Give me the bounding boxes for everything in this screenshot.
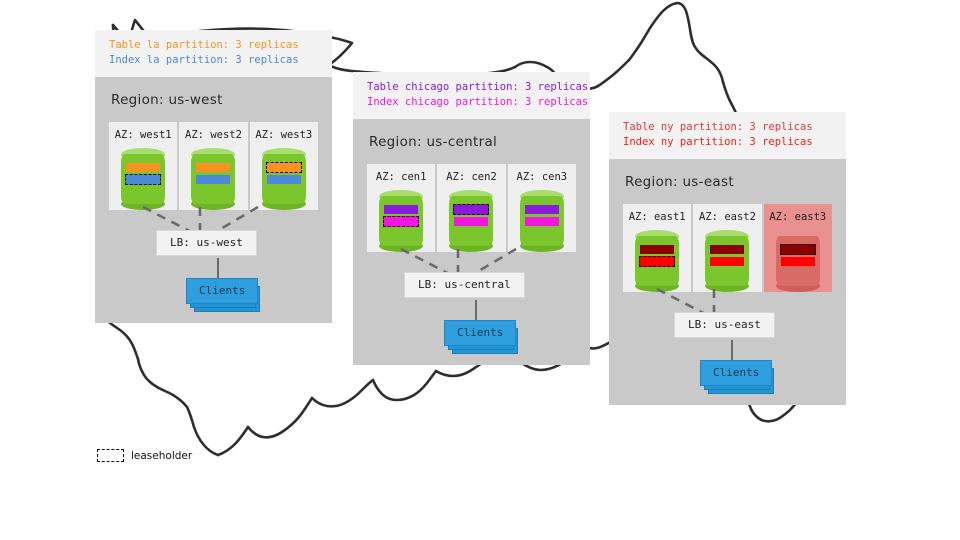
index-replica-bar xyxy=(781,257,815,266)
table-replica-bar xyxy=(196,163,230,172)
lb-to-clients-line xyxy=(217,258,219,278)
az-cen2[interactable]: AZ: cen2 xyxy=(437,164,507,252)
table-replica-bar xyxy=(710,245,744,254)
index-replica-bar-leaseholder xyxy=(125,174,161,185)
az-east2[interactable]: AZ: east2 xyxy=(693,204,763,292)
leaseholder-legend-label: leaseholder xyxy=(131,450,192,462)
replica-bars xyxy=(525,205,559,229)
partition-label-index: Index chicago partition: 3 replicas xyxy=(367,95,576,110)
db-node-cen1[interactable] xyxy=(379,190,423,252)
partition-label-index: Index la partition: 3 replicas xyxy=(109,53,318,68)
index-replica-bar xyxy=(525,217,559,226)
table-replica-bar-leaseholder xyxy=(266,162,302,173)
clients-label-us-east[interactable]: Clients xyxy=(700,360,772,386)
partition-label-table: Table ny partition: 3 replicas xyxy=(623,120,832,135)
db-node-east1[interactable] xyxy=(635,230,679,292)
clients-label-us-central[interactable]: Clients xyxy=(444,320,516,346)
replica-bars xyxy=(781,245,815,269)
az-label-east2: AZ: east2 xyxy=(693,211,761,223)
az-row-us-east: AZ: east1 AZ: east2 xyxy=(623,204,832,292)
az-label-west2: AZ: west2 xyxy=(179,129,247,141)
partition-label-table: Table chicago partition: 3 replicas xyxy=(367,80,576,95)
load-balancer-us-east[interactable]: LB: us-east xyxy=(674,312,775,338)
table-replica-bar xyxy=(384,205,418,214)
leaseholder-legend: leaseholder xyxy=(97,449,192,462)
az-west3[interactable]: AZ: west3 xyxy=(250,122,318,210)
db-node-west3[interactable] xyxy=(262,148,306,210)
replica-bars xyxy=(196,163,230,187)
region-title-us-central: Region: us-central xyxy=(369,134,576,150)
partition-legend-us-central: Table chicago partition: 3 replicas Inde… xyxy=(353,72,590,119)
az-label-cen1: AZ: cen1 xyxy=(367,171,435,183)
replica-bars xyxy=(454,205,488,229)
table-replica-bar xyxy=(525,205,559,214)
clients-stack-us-east[interactable]: Clients xyxy=(700,360,772,386)
clients-label-us-west[interactable]: Clients xyxy=(186,278,258,304)
replica-bars xyxy=(640,245,674,269)
partition-label-table: Table la partition: 3 replicas xyxy=(109,38,318,53)
db-node-west1[interactable] xyxy=(121,148,165,210)
table-replica-bar-leaseholder xyxy=(453,204,489,215)
db-node-west2[interactable] xyxy=(191,148,235,210)
az-east3-failed[interactable]: AZ: east3 xyxy=(764,204,832,292)
replica-bars xyxy=(710,245,744,269)
region-title-us-west: Region: us-west xyxy=(111,92,318,108)
clients-stack-us-central[interactable]: Clients xyxy=(444,320,516,346)
az-label-cen3: AZ: cen3 xyxy=(508,171,576,183)
index-replica-bar xyxy=(196,175,230,184)
db-node-east3-failed[interactable] xyxy=(776,230,820,292)
az-row-us-central: AZ: cen1 AZ: cen2 xyxy=(367,164,576,252)
az-label-east1: AZ: east1 xyxy=(623,211,691,223)
table-replica-bar-leaseholder xyxy=(780,244,816,255)
region-panel-us-east: Table ny partition: 3 replicas Index ny … xyxy=(609,112,846,405)
az-label-cen2: AZ: cen2 xyxy=(437,171,505,183)
region-title-us-east: Region: us-east xyxy=(625,174,832,190)
index-replica-bar-leaseholder xyxy=(639,256,675,267)
db-node-cen2[interactable] xyxy=(449,190,493,252)
az-label-west1: AZ: west1 xyxy=(109,129,177,141)
replica-bars xyxy=(267,163,301,187)
partition-legend-us-east: Table ny partition: 3 replicas Index ny … xyxy=(609,112,846,159)
az-cen1[interactable]: AZ: cen1 xyxy=(367,164,437,252)
db-node-east2[interactable] xyxy=(705,230,749,292)
partition-label-index: Index ny partition: 3 replicas xyxy=(623,135,832,150)
load-balancer-us-west[interactable]: LB: us-west xyxy=(156,230,257,256)
table-replica-bar xyxy=(126,163,160,172)
lb-to-clients-line xyxy=(475,300,477,320)
dashed-rectangle-icon xyxy=(97,449,124,462)
replica-bars xyxy=(384,205,418,229)
clients-stack-us-west[interactable]: Clients xyxy=(186,278,258,304)
az-east1[interactable]: AZ: east1 xyxy=(623,204,693,292)
region-panel-us-west: Table la partition: 3 replicas Index la … xyxy=(95,30,332,323)
partition-legend-us-west: Table la partition: 3 replicas Index la … xyxy=(95,30,332,77)
az-label-east3: AZ: east3 xyxy=(764,211,832,223)
table-replica-bar xyxy=(640,245,674,254)
index-replica-bar xyxy=(454,217,488,226)
index-replica-bar xyxy=(710,257,744,266)
load-balancer-us-central[interactable]: LB: us-central xyxy=(404,272,525,298)
index-replica-bar-leaseholder xyxy=(383,216,419,227)
lb-to-clients-line xyxy=(731,340,733,360)
replica-bars xyxy=(126,163,160,187)
az-row-us-west: AZ: west1 AZ: west2 xyxy=(109,122,318,210)
az-cen3[interactable]: AZ: cen3 xyxy=(508,164,576,252)
region-panel-us-central: Table chicago partition: 3 replicas Inde… xyxy=(353,72,590,365)
index-replica-bar xyxy=(267,175,301,184)
az-west2[interactable]: AZ: west2 xyxy=(179,122,249,210)
db-node-cen3[interactable] xyxy=(520,190,564,252)
az-label-west3: AZ: west3 xyxy=(250,129,318,141)
az-west1[interactable]: AZ: west1 xyxy=(109,122,179,210)
